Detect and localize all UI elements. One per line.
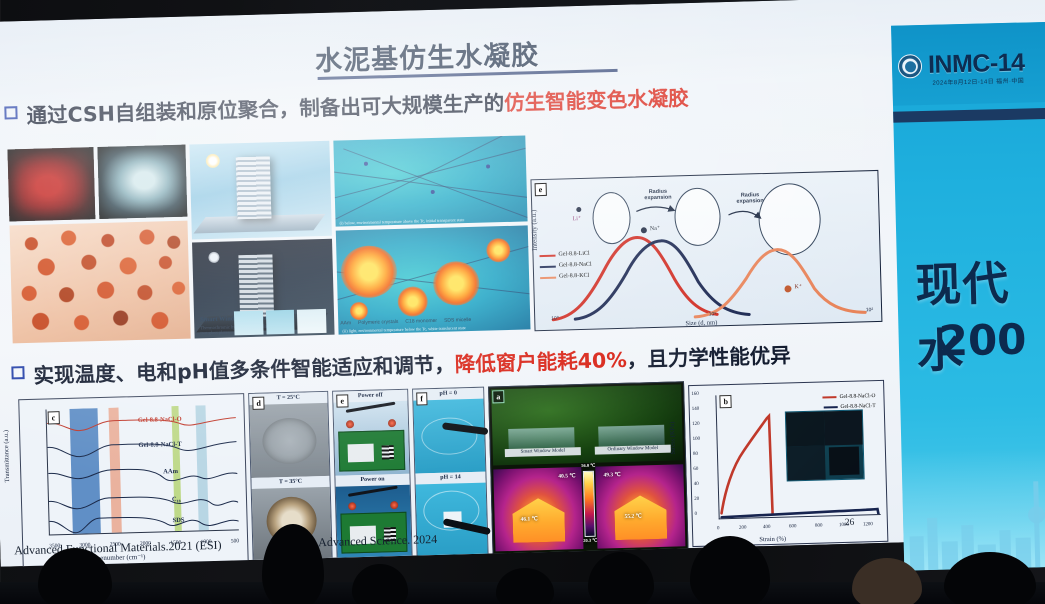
- legend-crystals: Polymeric crystals: [358, 319, 398, 326]
- presentation-slide: 水泥基仿生水凝胶 通过CSH自组装和原位聚合，制备出可大规模生产的仿生智能变色水…: [0, 0, 1045, 567]
- colorbar-min: 20.3 ℃: [583, 538, 597, 544]
- panel-tag-b: b: [719, 395, 732, 408]
- ion-label-li: Li⁺: [572, 215, 581, 222]
- legend-aam: AAm: [340, 320, 351, 326]
- diagram-smart-window-day: [189, 141, 332, 240]
- stress-xtick-600: 600: [789, 524, 797, 529]
- ftir-trace-label-0: Gel-8.8-NaCl-O: [138, 416, 182, 424]
- led-indicator: [346, 420, 354, 428]
- polymer-chain: [335, 135, 523, 219]
- crystal-dot: [364, 162, 368, 166]
- gel-ph-0: [413, 399, 485, 474]
- stress-xtick-800: 800: [815, 524, 823, 529]
- building-block: [236, 156, 272, 219]
- garden-photo: Smart Window Model Ordinary Window Model: [491, 384, 683, 465]
- sun-icon: [206, 154, 220, 168]
- photo-panel-ph: f pH = 0 pH = 14: [412, 387, 489, 557]
- panel-tag-d: d: [252, 397, 265, 410]
- stress-ytick-120: 120: [692, 422, 700, 427]
- dls-legend: Gel-8.8-LiCl Gel-8.8-NaCl Gel-8.8-KCl: [539, 249, 592, 283]
- k-ion-dot: [784, 285, 791, 292]
- ftir-trace-label-4: SDS: [172, 517, 184, 524]
- window-pane: [598, 425, 665, 447]
- dls-x-axis-label: Size (d, nm): [685, 319, 717, 327]
- photo-red-hydrogel: [7, 147, 95, 221]
- led-indicator: [388, 419, 396, 427]
- crystal-dot: [431, 190, 435, 194]
- thermal-image-ordinary: 49.3 ℃ 55.2 ℃: [595, 464, 685, 548]
- stress-xtick-400: 400: [763, 525, 771, 530]
- arrow-label-2: Radius expansion: [728, 192, 772, 205]
- legend-micelle: SDS micelle: [444, 317, 471, 324]
- gel-clear-25c: [249, 403, 329, 478]
- photo-porous-microstructure: [10, 221, 191, 344]
- gel-disc: [262, 417, 317, 464]
- temp-left-inner: 46.1 ℃: [521, 516, 538, 522]
- panel-tag-e2: e: [336, 394, 348, 407]
- li-ion-dot: [576, 207, 581, 212]
- ftir-trace-label-2: AAm: [163, 468, 178, 475]
- temp-right-outer: 49.3 ℃: [603, 472, 620, 478]
- led-indicator: [348, 502, 356, 510]
- dls-y-axis-label: Intensity (a.u.): [530, 210, 539, 251]
- tv-tower-icon: [1033, 481, 1040, 567]
- banner-headline-number: 200: [938, 315, 1027, 366]
- circuit-board: [338, 430, 405, 472]
- ftir-traces-svg: [47, 404, 239, 535]
- panel-tag-e: e: [535, 183, 547, 196]
- sds-micelle: [486, 238, 511, 263]
- swatch-1: [234, 311, 263, 336]
- stress-ytick-40: 40: [694, 482, 699, 487]
- panel-tag-c: c: [48, 411, 60, 424]
- chart-dls-size-distribution: e Intensity (a.u.) Size (d, nm) Li⁺ Na⁺ …: [530, 170, 882, 331]
- ftir-trace-label-3: C₁₈: [172, 496, 181, 503]
- thermal-image-smart: 40.5 ℃ 46.1 ℃: [493, 467, 583, 551]
- photo-panel-thermal: a Smart Window Model Ordinary Window Mod…: [488, 381, 688, 554]
- stress-xtick-0: 0: [717, 526, 720, 531]
- bullet-point-1: 通过CSH自组装和原位聚合，制备出可大规模生产的仿生智能变色水凝胶: [4, 81, 689, 130]
- colorbar-max: 56.0 ℃: [581, 463, 595, 469]
- ftir-trace-label-1: Gel-8.8-NaCl-T: [138, 441, 181, 449]
- ordinary-window-model-label: Ordinary Window Model: [595, 445, 671, 455]
- swatch-2: [266, 310, 295, 335]
- skyline-graphic: [901, 447, 1045, 571]
- ion-label-na: Na⁺: [650, 225, 660, 232]
- stress-ytick-20: 20: [694, 497, 699, 502]
- bullet-2-highlight: 降低窗户能耗40%: [454, 348, 627, 377]
- bullet-square-icon: [4, 106, 17, 119]
- screenshot-stage: 水泥基仿生水凝胶 通过CSH自组装和原位聚合，制备出可大规模生产的仿生智能变色水…: [0, 0, 1045, 604]
- chart-stress-strain: b Stress (KPa) Strain (%): [688, 380, 888, 547]
- bullet-1-highlight: 仿生智能变色水凝胶: [504, 86, 689, 115]
- wire: [348, 486, 398, 497]
- network-legend: AAm Polymeric crystals C18 monomer SDS m…: [340, 307, 531, 334]
- temp-right-inner: 55.2 ℃: [625, 513, 642, 519]
- ftir-y-axis-label: Transmittance (a.u.): [3, 430, 11, 482]
- stress-ytick-0: 0: [695, 512, 698, 517]
- polymer-chain: [333, 171, 527, 202]
- hydration-shell-small: [592, 192, 631, 245]
- stress-xtick-1200: 1200: [863, 522, 873, 527]
- network-top-caption: (i) below, environmental temperature abo…: [339, 217, 464, 225]
- sds-micelle: [433, 261, 480, 306]
- ordinary-window-model: Ordinary Window Model: [594, 423, 671, 455]
- sds-micelle: [340, 245, 397, 298]
- stress-ytick-100: 100: [692, 437, 700, 442]
- conference-banner: INMC-14 2024年8月12日-14日 福州·中国 现代水 200: [891, 22, 1045, 571]
- building-block: [238, 254, 274, 317]
- stress-y-axis-label: Stress (KPa): [669, 422, 677, 455]
- ftir-plot-area: [46, 404, 239, 535]
- temp-left-outer: 40.5 ℃: [558, 473, 575, 479]
- led-indicator: [390, 501, 398, 509]
- crystal-dot: [486, 164, 490, 168]
- panel-tag-a: a: [492, 390, 504, 403]
- inmc-logo-icon: [898, 54, 923, 79]
- device-power-off: [333, 401, 409, 476]
- bullet-1-text: 通过CSH自组装和原位聚合，制备出可大规模生产的仿生智能变色水凝胶: [26, 81, 689, 129]
- na-ion-dot: [641, 227, 647, 233]
- diagram-network-transparent: (i) below, environmental temperature abo…: [333, 135, 527, 226]
- dls-legend-item-kcl: Gel-8.8-KCl: [540, 271, 592, 283]
- stress-ytick-140: 140: [692, 407, 700, 412]
- smart-window-model-label: Smart Window Model: [505, 447, 581, 457]
- stress-ytick-60: 60: [693, 467, 698, 472]
- photo-blue-hydrogel: [97, 145, 187, 219]
- bullet-square-icon: [11, 366, 24, 379]
- moon-icon: [208, 252, 219, 263]
- stress-x-axis-label: Strain (%): [759, 536, 786, 544]
- smart-window-model: Smart Window Model: [504, 425, 581, 457]
- skyline-building: [927, 518, 938, 570]
- stress-xtick-200: 200: [739, 526, 747, 531]
- arrow-label-1: Radius expansion: [636, 188, 680, 201]
- stress-ytick-160: 160: [691, 392, 699, 397]
- page-number: 26: [845, 518, 855, 528]
- projection-screen: 水泥基仿生水凝胶 通过CSH自组装和原位聚合，制备出可大规模生产的仿生智能变色水…: [0, 0, 1045, 567]
- stress-legend-item-t: Gel-8.8-NaCl-T: [823, 401, 876, 412]
- stress-legend: Gel-8.8-NaCl-O Gel-8.8-NaCl-T: [822, 391, 875, 412]
- skyline-building: [910, 536, 925, 570]
- page-title: 水泥基仿生水凝胶: [0, 24, 867, 87]
- hydration-shell-mid: [674, 187, 722, 246]
- legend-c18: C18 monomer: [405, 318, 437, 325]
- stress-inset-photo: [785, 409, 865, 481]
- glass-swatches: [234, 309, 327, 335]
- polymer-chain: [343, 148, 528, 219]
- window-pane: [508, 427, 575, 449]
- wire: [346, 402, 396, 413]
- stress-ytick-80: 80: [693, 452, 698, 457]
- swatch-3: [297, 309, 326, 334]
- panel-tag-f: f: [416, 392, 427, 405]
- ion-label-k: K⁺: [794, 283, 802, 290]
- thermal-colorbar: [583, 471, 596, 537]
